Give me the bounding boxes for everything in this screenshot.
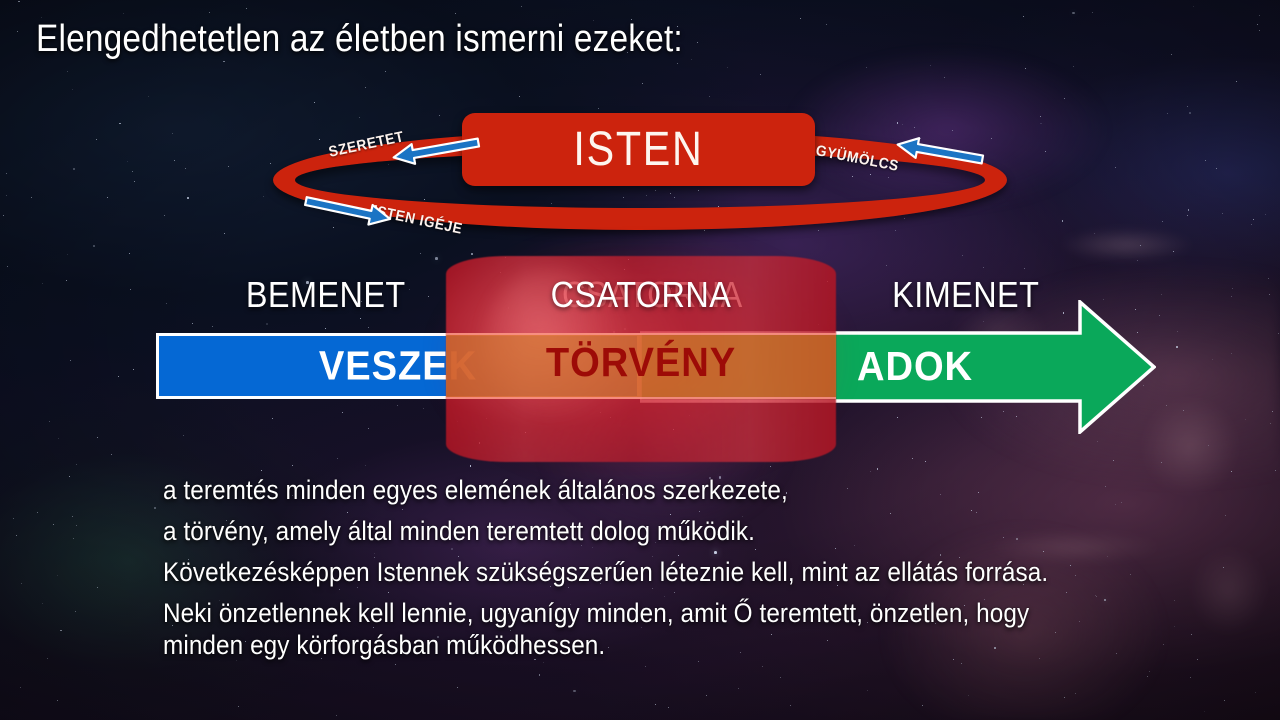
channel-value-label: TÖRVÉNY xyxy=(460,339,823,386)
body-line-1: a teremtés minden egyes elemének általán… xyxy=(163,474,1135,506)
channel-caption-overlay: CSATORNA xyxy=(466,274,817,316)
body-text-block: a teremtés minden egyes elemének általán… xyxy=(163,474,1243,661)
channel-cylinder: CSATORNA TÖRVÉNY xyxy=(446,256,836,462)
body-line-4: Neki önzetlennek kell lennie, ugyanígy m… xyxy=(163,597,1135,661)
input-caption: BEMENET xyxy=(246,274,406,316)
body-line-2: a törvény, amely által minden teremtett … xyxy=(163,515,1135,547)
slide-canvas: Elengedhetetlen az életben ismerni ezeke… xyxy=(0,0,1280,720)
body-line-3: Következésképpen Istennek szükségszerűen… xyxy=(163,556,1135,588)
